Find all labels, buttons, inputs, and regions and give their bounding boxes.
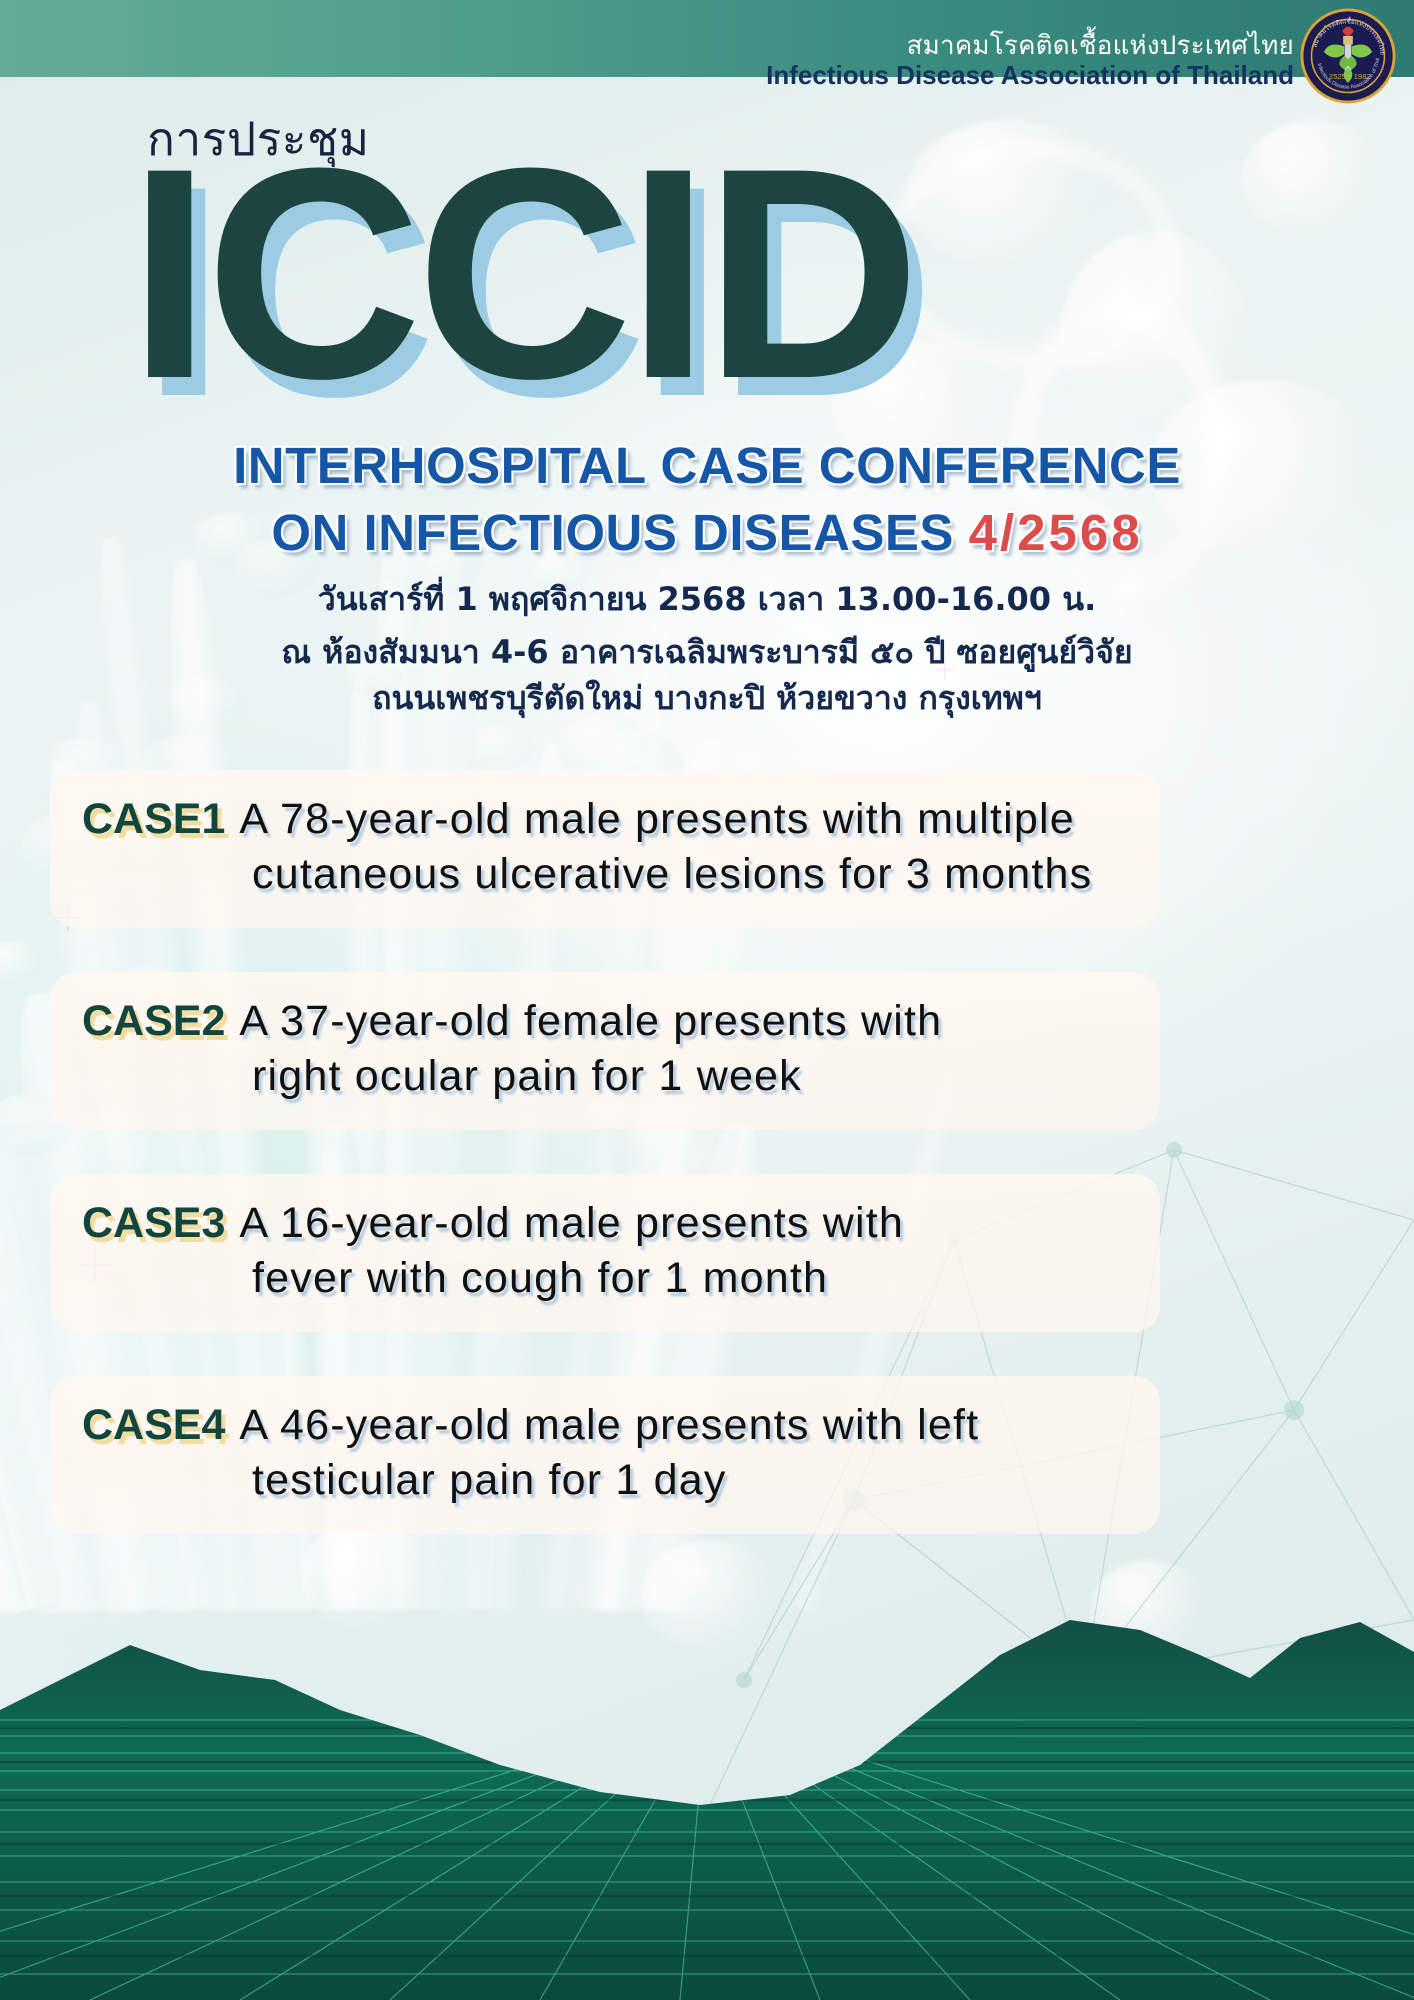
case-list: CASE1A 78-year-old male presents with mu… <box>50 770 1160 1578</box>
subtitle-line-2-text: ON INFECTIOUS DISEASES <box>271 504 954 561</box>
case-tag: CASE3 <box>82 1199 225 1247</box>
case-text-line-2: fever with cough for 1 month <box>82 1251 1130 1306</box>
event-venue-line-2: ถนนเพชรบุรีตัดใหม่ บางกะปิ ห้วยขวาง กรุง… <box>0 673 1414 724</box>
case-first-line: CASE4A 46-year-old male presents with le… <box>82 1398 1130 1453</box>
event-venue-line-1: ณ ห้องสัมมนา 4-6 อาคารเฉลิมพระบารมี ๕๐ ป… <box>0 627 1414 678</box>
case-item: CASE1A 78-year-old male presents with mu… <box>50 770 1160 928</box>
case-text-line-2: testicular pain for 1 day <box>82 1453 1130 1508</box>
conference-edition-year: 4/2568 <box>969 504 1143 561</box>
case-text-line-1: A 16-year-old male presents with <box>239 1199 904 1247</box>
event-datetime: วันเสาร์ที่ 1 พฤศจิกายน 2568 เวลา 13.00-… <box>0 574 1414 625</box>
case-text-line-1: A 46-year-old male presents with left <box>239 1401 979 1449</box>
subtitle-line-2: ON INFECTIOUS DISEASES 4/2568 <box>0 503 1414 562</box>
case-first-line: CASE1A 78-year-old male presents with mu… <box>82 792 1130 847</box>
subtitle-line-1: INTERHOSPITAL CASE CONFERENCE <box>0 436 1414 495</box>
case-tag: CASE1 <box>82 795 225 843</box>
case-item: CASE3A 16-year-old male presents with fe… <box>50 1174 1160 1332</box>
case-item: CASE2A 37-year-old female presents with … <box>50 972 1160 1130</box>
case-text-line-1: A 37-year-old female presents with <box>239 997 942 1045</box>
case-text-line-2: right ocular pain for 1 week <box>82 1049 1130 1104</box>
terrain-wireframe-graphic <box>0 1560 1414 2000</box>
case-first-line: CASE3A 16-year-old male presents with <box>82 1196 1130 1251</box>
page-title-acronym: ICCID <box>128 123 1128 423</box>
case-text-line-2: cutaneous ulcerative lesions for 3 month… <box>82 847 1130 902</box>
case-tag: CASE2 <box>82 997 225 1045</box>
idat-seal-logo-icon: 2525 1982 สมาคมโรคติดเชื้อแห่งประเทศไทย … <box>1300 8 1396 104</box>
case-item: CASE4A 46-year-old male presents with le… <box>50 1376 1160 1534</box>
case-text-line-1: A 78-year-old male presents with multipl… <box>239 795 1075 843</box>
organization-name-english: Infectious Disease Association of Thaila… <box>766 60 1294 91</box>
case-tag: CASE4 <box>82 1401 225 1449</box>
case-first-line: CASE2A 37-year-old female presents with <box>82 994 1130 1049</box>
poster-root: สมาคมโรคติดเชื้อแห่งประเทศไทย Infectious… <box>0 0 1414 2000</box>
